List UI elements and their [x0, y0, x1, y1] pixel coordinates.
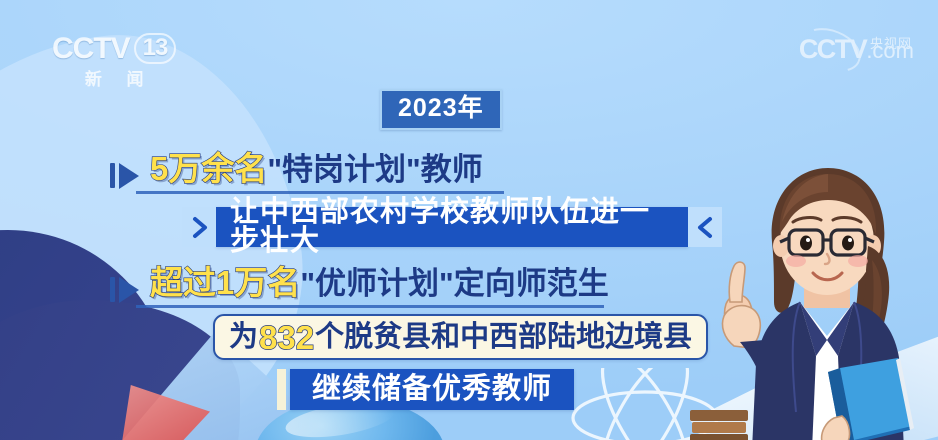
- statement-line-4: 为832个脱贫县和中西部陆地边境县: [213, 314, 708, 360]
- line-4-prefix: 为: [229, 323, 258, 352]
- line-4-number: 832: [259, 321, 314, 354]
- cream-accent-bar: [277, 369, 286, 410]
- chevron-right-icon: [182, 207, 216, 247]
- bar-triangle-marker: [110, 163, 139, 189]
- line-3-underline: [136, 305, 604, 308]
- teacher-illustration: [700, 150, 938, 440]
- line-5-text: 继续储备优秀教师: [312, 375, 552, 404]
- statement-line-3: 超过1万名"优师计划"定向师范生: [110, 266, 609, 303]
- line-1-text: "特岗计划"教师: [267, 152, 482, 187]
- bar-triangle-marker: [110, 277, 139, 303]
- line-4-suffix: 个脱贫县和中西部陆地边境县: [315, 323, 692, 352]
- line-1-underline: [136, 191, 504, 194]
- statement-line-1: 5万余名"特岗计划"教师: [110, 152, 483, 189]
- statement-line-2: 让中西部农村学校教师队伍进一步壮大: [216, 207, 688, 247]
- line-3-text: "优师计划"定向师范生: [300, 266, 608, 301]
- news-graphic-stage: CCTV13 新 闻 央视网 CCTV.com 2023年 5万余名"特岗计划"…: [0, 0, 938, 440]
- line-2-text: 让中西部农村学校教师队伍进一步壮大: [230, 198, 674, 256]
- line-3-highlight: 超过1万名: [150, 264, 300, 301]
- line-1-highlight: 5万余名: [150, 150, 267, 187]
- statement-line-5: 继续储备优秀教师: [290, 369, 574, 410]
- year-badge: 2023年: [380, 89, 502, 130]
